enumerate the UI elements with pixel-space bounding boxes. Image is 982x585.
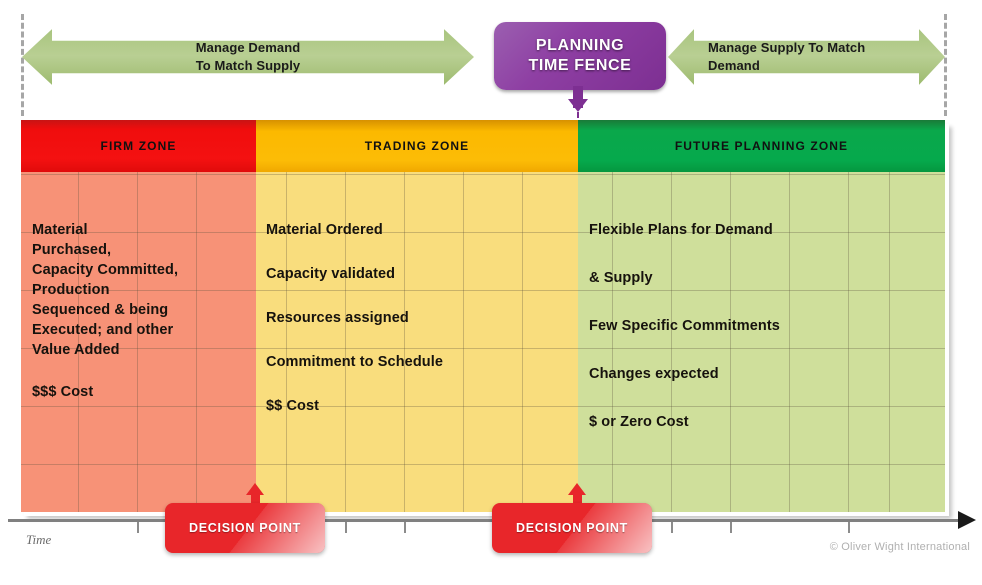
manage-supply-arrow-text: Manage Supply To Match Demand — [708, 39, 865, 74]
manage-supply-line-2: Demand — [708, 57, 865, 75]
zone-line: Capacity Committed, — [32, 260, 250, 280]
zone-header-future-label: FUTURE PLANNING ZONE — [675, 139, 848, 153]
zone-header-future: FUTURE PLANNING ZONE — [578, 120, 945, 172]
zone-header-firm-label: FIRM ZONE — [101, 139, 177, 153]
right-arrow-icon — [958, 511, 976, 529]
zone-line: Sequenced & being — [32, 300, 250, 320]
zone-cost-future: $ or Zero Cost — [589, 412, 939, 432]
zone-header-trading: TRADING ZONE — [256, 120, 578, 172]
zone-body-trading: Material Ordered Capacity validated Reso… — [256, 172, 578, 512]
zone-line: Flexible Plans for Demand — [589, 220, 939, 240]
time-axis-line — [8, 519, 963, 522]
grid-line-horizontal — [256, 464, 578, 465]
zone-line: Few Specific Commitments — [589, 316, 939, 336]
zone-cost-trading: $$ Cost — [266, 396, 572, 416]
zone-line: Production — [32, 280, 250, 300]
zone-line: Material — [32, 220, 250, 240]
zone-line: & Supply — [589, 268, 939, 288]
axis-tick — [345, 522, 347, 533]
zone-line: Changes expected — [589, 364, 939, 384]
manage-demand-arrow-text: Manage Demand To Match Supply — [196, 39, 301, 74]
grid-line-horizontal — [578, 464, 945, 465]
zone-header-firm: FIRM ZONE — [21, 120, 256, 172]
zone-line: Resources assigned — [266, 308, 572, 328]
planning-time-fence-diagram: Manage Demand To Match Supply Manage Sup… — [0, 0, 982, 585]
axis-tick — [404, 522, 406, 533]
manage-demand-line-1: Manage Demand — [196, 39, 301, 57]
zone-header-trading-label: TRADING ZONE — [365, 139, 470, 153]
zone-body-firm: Material Purchased, Capacity Committed, … — [21, 172, 256, 512]
grid-line-horizontal — [256, 174, 578, 175]
zone-line: Purchased, — [32, 240, 250, 260]
zone-text-future: Flexible Plans for Demand & Supply Few S… — [589, 220, 939, 460]
zone-text-trading: Material Ordered Capacity validated Reso… — [266, 220, 572, 440]
zone-body-future: Flexible Plans for Demand & Supply Few S… — [578, 172, 945, 512]
axis-tick — [137, 522, 139, 533]
zone-line: Executed; and other — [32, 320, 250, 340]
decision-point-callout-2: DECISION POINT — [492, 503, 652, 553]
down-arrow-icon — [568, 99, 588, 112]
axis-tick — [848, 522, 850, 533]
grid-line-horizontal — [21, 174, 256, 175]
axis-tick — [671, 522, 673, 533]
time-axis-label: Time — [26, 532, 51, 548]
decision-point-label: DECISION POINT — [516, 521, 628, 535]
manage-supply-arrow: Manage Supply To Match Demand — [668, 28, 945, 86]
grid-line-horizontal — [578, 174, 945, 175]
zone-text-firm: Material Purchased, Capacity Committed, … — [32, 220, 250, 402]
decision-point-label: DECISION POINT — [189, 521, 301, 535]
axis-tick — [730, 522, 732, 533]
manage-supply-line-1: Manage Supply To Match — [708, 39, 865, 57]
grid-line-horizontal — [21, 464, 256, 465]
planning-time-fence-line-2: TIME FENCE — [529, 56, 632, 76]
zone-line: Value Added — [32, 340, 250, 360]
planning-time-fence-line-1: PLANNING — [536, 36, 624, 56]
decision-point-callout-1: DECISION POINT — [165, 503, 325, 553]
manage-demand-line-2: To Match Supply — [196, 57, 301, 75]
zone-line: Capacity validated — [266, 264, 572, 284]
copyright-notice: © Oliver Wight International — [830, 541, 970, 553]
manage-demand-arrow: Manage Demand To Match Supply — [22, 28, 474, 86]
zone-cost-firm: $$$ Cost — [32, 382, 250, 402]
zone-line: Material Ordered — [266, 220, 572, 240]
planning-time-fence-label: PLANNING TIME FENCE — [494, 22, 666, 90]
zone-line: Commitment to Schedule — [266, 352, 572, 372]
grid-line-horizontal — [21, 406, 256, 407]
